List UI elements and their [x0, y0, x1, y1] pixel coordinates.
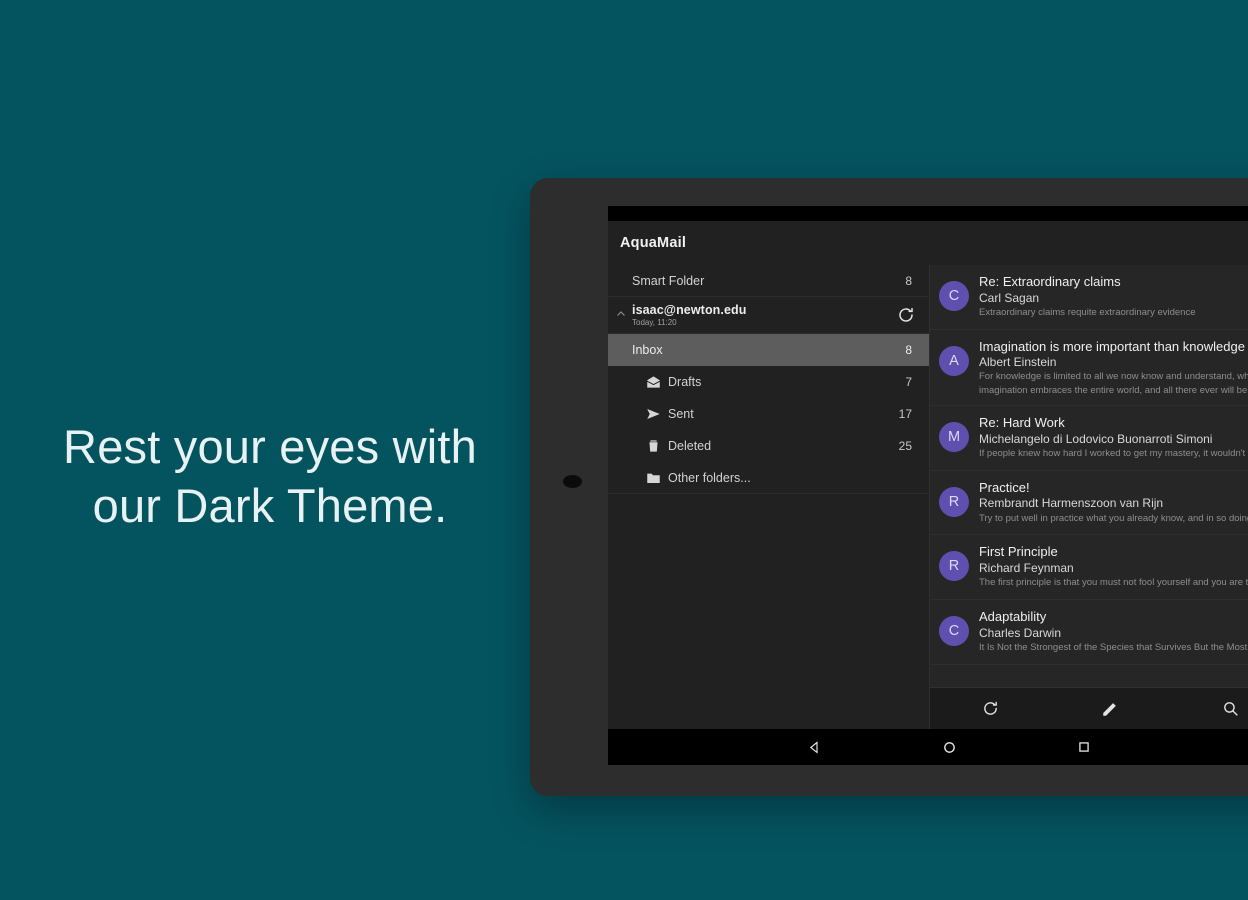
message-sender: Rembrandt Harmenszoon van Rijn [979, 495, 1248, 511]
message-preview: If people knew how hard I worked to get … [979, 447, 1248, 461]
sidebar-item-smart-folder[interactable]: Smart Folder 8 [608, 265, 929, 297]
app-bar: AquaMail [608, 221, 1248, 265]
home-circle-icon[interactable] [942, 740, 957, 755]
promo-headline-line-2: our Dark Theme. [0, 477, 540, 536]
list-item[interactable]: C Adaptability Charles Darwin It Is Not … [930, 600, 1248, 665]
account-email: isaac@newton.edu [632, 303, 897, 317]
avatar: C [939, 616, 969, 646]
avatar: M [939, 422, 969, 452]
navigation-drawer: Smart Folder 8 isaac@newton.edu Today, 1… [608, 265, 930, 729]
message-subject: Re: Extraordinary claims [979, 274, 1248, 290]
sidebar-item-drafts[interactable]: Drafts 7 [608, 366, 929, 398]
sidebar-item-other-folders[interactable]: Other folders... [608, 462, 929, 494]
list-item[interactable]: C Re: Extraordinary claims Carl Sagan Ex… [930, 265, 1248, 330]
sidebar-item-label: Drafts [668, 375, 905, 389]
back-triangle-icon[interactable] [807, 740, 822, 755]
avatar: A [939, 346, 969, 376]
refresh-icon[interactable] [897, 306, 915, 324]
message-body: First Principle Richard Feynman The firs… [979, 544, 1248, 590]
bottom-toolbar [930, 687, 1248, 729]
message-sender: Michelangelo di Lodovico Buonarroti Simo… [979, 431, 1248, 447]
compose-pencil-icon[interactable] [1050, 700, 1170, 718]
message-subject: Adaptability [979, 609, 1248, 625]
message-body: Re: Hard Work Michelangelo di Lodovico B… [979, 415, 1248, 461]
sidebar-item-deleted[interactable]: Deleted 25 [608, 430, 929, 462]
message-preview: Extraordinary claims requite extraordina… [979, 306, 1248, 320]
refresh-icon[interactable] [930, 700, 1050, 717]
avatar: C [939, 281, 969, 311]
send-icon [646, 407, 661, 422]
message-preview: It Is Not the Strongest of the Species t… [979, 641, 1248, 655]
promo-screenshot: Rest your eyes with our Dark Theme. Aqua… [0, 0, 1248, 900]
app-title: AquaMail [620, 235, 686, 251]
sidebar-item-inbox[interactable]: Inbox 8 [608, 334, 929, 366]
sidebar-item-label: Sent [668, 407, 899, 421]
message-sender: Carl Sagan [979, 290, 1248, 306]
sidebar-item-label: Deleted [668, 439, 899, 453]
message-list-pane: C Re: Extraordinary claims Carl Sagan Ex… [930, 265, 1248, 729]
message-body: Adaptability Charles Darwin It Is Not th… [979, 609, 1248, 655]
folder-icon [646, 470, 661, 485]
message-sender: Albert Einstein [979, 354, 1248, 370]
message-subject: First Principle [979, 544, 1248, 560]
message-sender: Charles Darwin [979, 625, 1248, 641]
sidebar-item-count: 17 [899, 407, 912, 421]
tablet-device: AquaMail Smart Folder 8 isaac@newton.ed [530, 178, 1248, 796]
message-sender: Richard Feynman [979, 560, 1248, 576]
sidebar-item-sent[interactable]: Sent 17 [608, 398, 929, 430]
list-item[interactable]: A Imagination is more important than kno… [930, 330, 1248, 407]
promo-headline-line-1: Rest your eyes with [0, 418, 540, 477]
message-preview: For knowledge is limited to all we now k… [979, 370, 1248, 396]
open-envelope-icon [646, 375, 661, 390]
list-item[interactable]: R Practice! Rembrandt Harmenszoon van Ri… [930, 471, 1248, 536]
avatar: R [939, 551, 969, 581]
sidebar-item-count: 8 [905, 343, 912, 357]
message-list[interactable]: C Re: Extraordinary claims Carl Sagan Ex… [930, 265, 1248, 687]
message-preview: Try to put well in practice what you alr… [979, 512, 1248, 526]
message-preview: The first principle is that you must not… [979, 576, 1248, 590]
sidebar-item-label: Other folders... [668, 471, 912, 485]
message-body: Imagination is more important than knowl… [979, 339, 1248, 397]
chevron-up-icon[interactable] [616, 309, 626, 319]
message-body: Re: Extraordinary claims Carl Sagan Extr… [979, 274, 1248, 320]
status-bar [608, 206, 1248, 221]
account-sync-status: Today, 11:20 [632, 318, 897, 327]
drawer-empty-space [608, 494, 929, 729]
sidebar-account-row[interactable]: isaac@newton.edu Today, 11:20 [608, 297, 929, 334]
sidebar-item-count: 7 [905, 375, 912, 389]
camera-dot-icon [563, 475, 582, 488]
account-text-group: isaac@newton.edu Today, 11:20 [632, 303, 897, 327]
message-subject: Practice! [979, 480, 1248, 496]
smart-folder-count: 8 [905, 274, 912, 288]
message-body: Practice! Rembrandt Harmenszoon van Rijn… [979, 480, 1248, 526]
search-icon[interactable] [1170, 700, 1248, 717]
app-content: Smart Folder 8 isaac@newton.edu Today, 1… [608, 265, 1248, 729]
promo-headline: Rest your eyes with our Dark Theme. [0, 418, 540, 536]
tablet-screen: AquaMail Smart Folder 8 isaac@newton.ed [608, 206, 1248, 765]
recents-square-icon[interactable] [1077, 740, 1091, 754]
message-subject: Imagination is more important than knowl… [979, 339, 1248, 355]
message-subject: Re: Hard Work [979, 415, 1248, 431]
sidebar-item-label: Inbox [632, 343, 905, 357]
list-item[interactable]: M Re: Hard Work Michelangelo di Lodovico… [930, 406, 1248, 471]
list-item[interactable]: R First Principle Richard Feynman The fi… [930, 535, 1248, 600]
android-navigation-bar [608, 729, 1248, 765]
trash-icon [646, 439, 661, 454]
avatar: R [939, 487, 969, 517]
smart-folder-label: Smart Folder [632, 274, 905, 288]
sidebar-item-count: 25 [899, 439, 912, 453]
